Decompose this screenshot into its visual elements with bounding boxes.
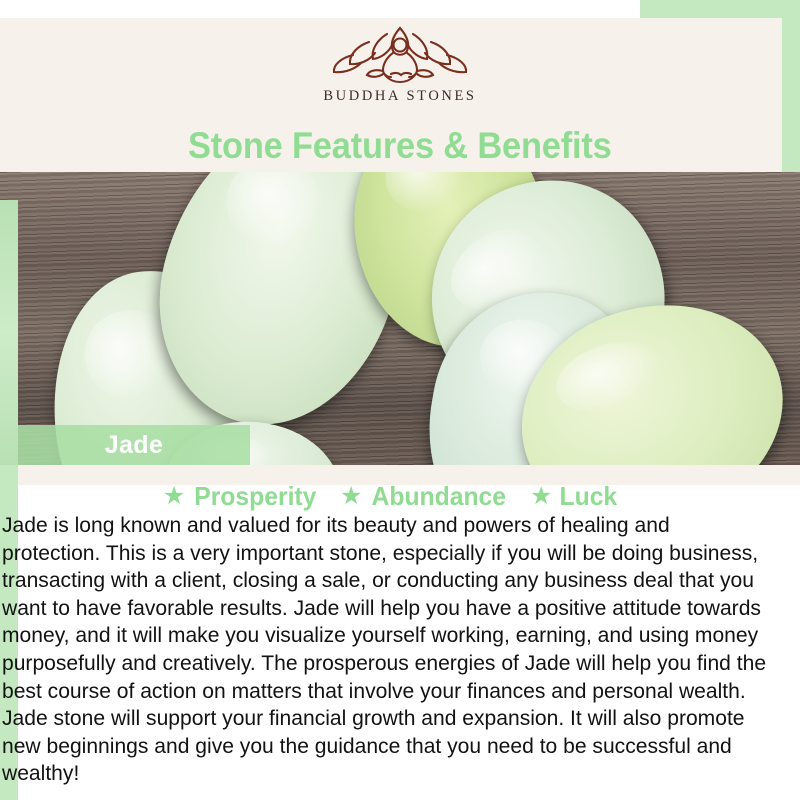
brand-header: BUDDHA STONES	[0, 0, 800, 120]
page-title: Stone Features & Benefits	[188, 125, 612, 167]
star-icon: ★	[163, 484, 185, 509]
brand-name: BUDDHA STONES	[323, 88, 476, 105]
stone-description: Jade is long known and valued for its be…	[2, 512, 768, 788]
lotus-meditation-icon	[325, 22, 475, 84]
stone-name: Jade	[105, 431, 164, 460]
page-title-bar: Stone Features & Benefits	[0, 122, 800, 170]
star-icon: ★	[530, 484, 552, 509]
stone-photo	[0, 172, 800, 465]
star-icon: ★	[340, 484, 362, 509]
stone-name-banner: Jade	[18, 425, 250, 465]
benefit-item: ★ Luck	[530, 481, 619, 512]
benefit-item: ★ Prosperity	[163, 481, 320, 512]
benefit-item: ★ Abundance	[340, 481, 510, 512]
benefit-label: Prosperity	[195, 481, 317, 512]
infographic-card: BUDDHA STONES Stone Features & Benefits …	[0, 0, 800, 800]
benefits-row: ★ Prosperity ★ Abundance ★ Luck	[0, 481, 782, 512]
benefit-label: Luck	[560, 481, 618, 512]
green-edge-decoration-left-upper	[0, 200, 18, 465]
benefit-label: Abundance	[372, 481, 506, 512]
